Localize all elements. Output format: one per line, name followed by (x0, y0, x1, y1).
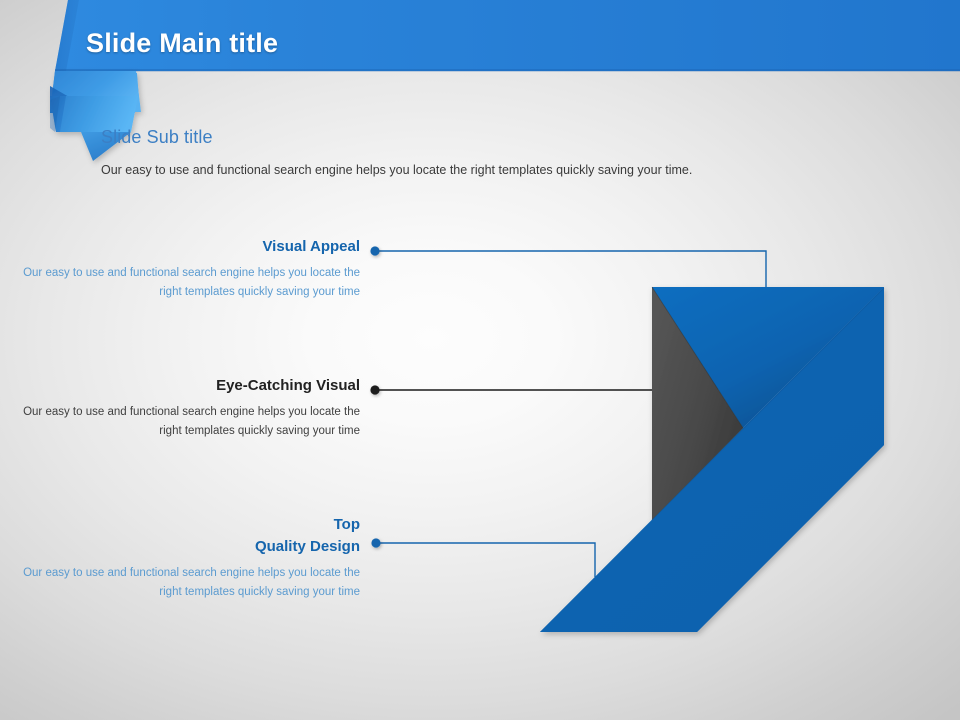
feature-title: Visual Appeal (20, 236, 360, 258)
connector-line-1 (370, 246, 766, 287)
slide-intro-body: Our easy to use and functional search en… (101, 162, 701, 179)
page-title: Slide Main title (86, 28, 278, 59)
feature-body: Our easy to use and functional search en… (20, 264, 360, 302)
feature-body: Our easy to use and functional search en… (20, 403, 360, 441)
feature-block-eye-catching-visual: Eye-Catching Visual Our easy to use and … (20, 375, 360, 441)
slide-artwork (0, 0, 960, 720)
feature-block-top-quality-design: Top Quality Design Our easy to use and f… (20, 514, 360, 602)
arrow-graphic (540, 287, 884, 632)
connector-line-3 (371, 538, 595, 577)
connector-line-2 (370, 385, 652, 394)
slide-sub-title: Slide Sub title (101, 127, 213, 148)
feature-block-visual-appeal: Visual Appeal Our easy to use and functi… (20, 236, 360, 302)
slide-canvas: Slide Main title Slide Sub title Our eas… (0, 0, 960, 720)
feature-title: Eye-Catching Visual (20, 375, 360, 397)
feature-title: Top Quality Design (20, 514, 360, 558)
feature-body: Our easy to use and functional search en… (20, 564, 360, 602)
